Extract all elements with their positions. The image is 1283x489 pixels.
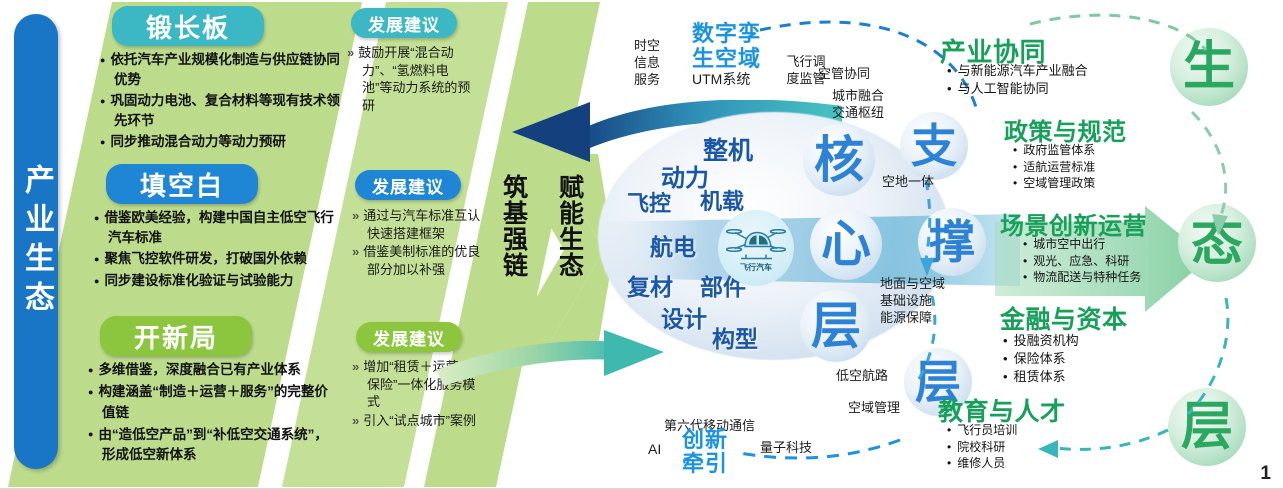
infographic-canvas: 产业生态 锻长板 依托汽车产业规模化制造与供应链协同优势 巩固动力电池、复合材料… xyxy=(0,0,1283,489)
enable-arrow-bottom xyxy=(436,330,666,394)
list-item: 维修人员 xyxy=(960,455,1124,472)
eco-items-industry-synergy: 与新能源汽车产业融合 与人工智能协同 xyxy=(944,62,1144,98)
list-item: 租赁体系 xyxy=(1016,368,1180,386)
eco-items-scenario: 城市空中出行 观光、应急、科研 物流配送与特种任务 xyxy=(1020,236,1220,286)
list-item: 飞行员培训 xyxy=(960,422,1124,439)
core-word-fucai: 复材 xyxy=(627,268,673,302)
anno-atc-coordination: 空管协同 xyxy=(818,66,870,83)
label-digital-twin-airspace: 数字孪生空域 xyxy=(692,22,778,71)
page-number: 1 xyxy=(1260,463,1271,485)
pill-kaixinju[interactable]: 开新局 xyxy=(100,316,252,356)
anno-ground-infrastructure: 地面与空域 基础设施 能源保障 xyxy=(880,276,970,327)
anno-city-hub: 城市融合 交通枢纽 xyxy=(832,88,904,122)
left-vertical-banner: 产业生态 xyxy=(14,14,58,469)
list-item: 保险体系 xyxy=(1016,350,1180,368)
eco-items-education: 飞行员培训 院校科研 维修人员 xyxy=(944,422,1124,472)
label-innovation-drive: 创新牵引 xyxy=(682,428,746,476)
eco-items-policy: 政府监管体系 适航运营标准 空域管理政策 xyxy=(1010,142,1200,192)
bullets-kaixinju: 多维借鉴，深度融合已有产业体系 构建涵盖“制造＋运营＋服务”的完整价值链 由“造… xyxy=(86,360,330,467)
anno-shikong-xinxi-fuwu: 时空 信息 服务 xyxy=(626,38,668,89)
suggestion-item: 通过与汽车标准互认快速搭建框架 xyxy=(367,207,482,242)
bullet-item: 借鉴欧美经验，构建中国自主低空飞行汽车标准 xyxy=(108,208,334,247)
eco-items-finance: 投融资机构 保险体系 租赁体系 xyxy=(1000,332,1180,386)
arrow-label-left: 筑基强链 xyxy=(500,174,526,278)
bullets-duanchangban: 依托汽车产业规模化制造与供应链协同优势 巩固动力电池、复合材料等现有技术领先环节… xyxy=(98,50,340,154)
label-utm-system: UTM系统 xyxy=(692,70,750,88)
list-item: 适航运营标准 xyxy=(1026,159,1200,176)
core-word-feikong: 飞控 xyxy=(627,186,671,218)
pill-fazhanjianyi-1[interactable]: 发展建议 xyxy=(351,8,457,38)
pill-fazhanjianyi-2[interactable]: 发展建议 xyxy=(355,170,461,200)
anno-airspace-management: 空域管理 xyxy=(848,400,900,417)
anno-low-altitude-route: 低空航路 xyxy=(836,368,888,385)
suggestions-1: 鼓励开展“混合动力”、“氢燃料电池”等动力系统的预研 xyxy=(345,44,473,115)
suggestion-item: 借鉴美制标准的优良部分加以补强 xyxy=(367,243,482,278)
list-item: 政府监管体系 xyxy=(1026,142,1200,159)
anno-kongdi-yiti: 空地一体 xyxy=(882,174,934,191)
anno-ai: AI xyxy=(648,440,661,458)
suggestion-item: 引入“试点城市”案例 xyxy=(367,412,478,430)
list-item: 空域管理政策 xyxy=(1026,175,1200,192)
bullet-item: 依托汽车产业规模化制造与供应链协同优势 xyxy=(114,50,340,89)
pill-tiankongbai[interactable]: 填空白 xyxy=(106,164,258,204)
left-banner-label: 产业生态 xyxy=(21,164,51,320)
bullet-item: 聚焦飞控软件研发，打破国外依赖 xyxy=(108,249,334,269)
list-item: 院校科研 xyxy=(960,439,1124,456)
bullet-item: 多维借鉴，深度融合已有产业体系 xyxy=(102,360,330,380)
bullets-tiankongbai: 借鉴欧美经验，构建中国自主低空飞行汽车标准 聚焦飞控软件研发，打破国外依赖 同步… xyxy=(92,208,334,292)
pill-duanchangban[interactable]: 锻长板 xyxy=(112,6,264,46)
list-item: 与人工智能协同 xyxy=(960,80,1144,98)
anno-quantum: 量子科技 xyxy=(760,440,812,457)
core-word-sheji: 设计 xyxy=(661,300,707,334)
suggestion-item: 鼓励开展“混合动力”、“氢燃料电池”等动力系统的预研 xyxy=(362,44,473,114)
list-item: 与新能源汽车产业融合 xyxy=(960,62,1144,80)
list-item: 观光、应急、科研 xyxy=(1036,253,1220,270)
eco-title-finance: 金融与资本 xyxy=(1000,300,1128,336)
arrow-label-right: 赋能生态 xyxy=(556,174,582,278)
bullet-item: 同步推动混合动力等动力预研 xyxy=(114,132,340,152)
bullet-item: 构建涵盖“制造＋运营＋服务”的完整价值链 xyxy=(102,382,330,423)
core-word-hangdian: 航电 xyxy=(650,228,696,262)
suggestions-2: 通过与汽车标准互认快速搭建框架 借鉴美制标准的优良部分加以补强 xyxy=(350,207,482,279)
list-item: 城市空中出行 xyxy=(1036,236,1220,253)
list-item: 物流配送与特种任务 xyxy=(1036,269,1220,286)
bullet-item: 由“造低空产品”到“补低空交通系统”，形成低空新体系 xyxy=(102,425,330,466)
bullet-item: 巩固动力电池、复合材料等现有技术领先环节 xyxy=(114,91,340,130)
list-item: 投融资机构 xyxy=(1016,332,1180,350)
core-word-jizai: 机载 xyxy=(700,184,744,216)
bullet-item: 同步建设标准化验证与试验能力 xyxy=(108,271,334,291)
